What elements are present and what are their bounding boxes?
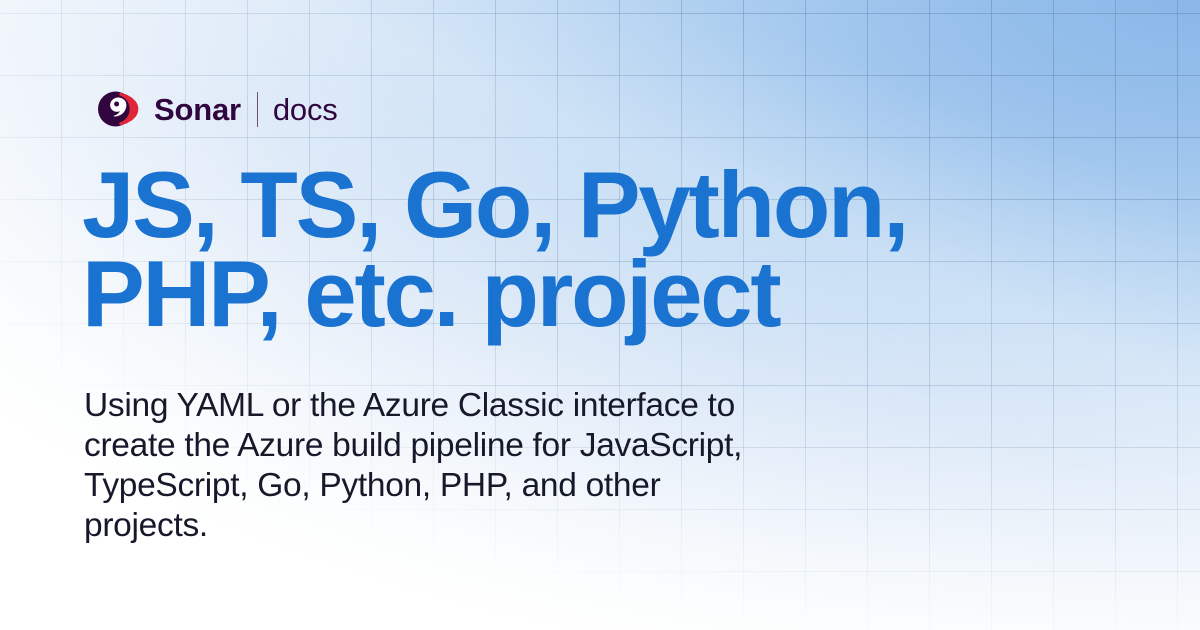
brand-divider — [257, 92, 258, 127]
brand-name: Sonar — [154, 94, 241, 125]
brand-wordmark: Sonar docs — [154, 92, 338, 127]
sonar-logo-icon — [96, 87, 140, 131]
page-description: Using YAML or the Azure Classic interfac… — [84, 386, 884, 546]
card-content: Sonar docs JS, TS, Go, Python, PHP, etc.… — [0, 0, 1200, 630]
brand-lockup: Sonar docs — [96, 86, 338, 132]
brand-section-label: docs — [273, 94, 338, 125]
social-card: Sonar docs JS, TS, Go, Python, PHP, etc.… — [0, 0, 1200, 630]
page-title: JS, TS, Go, Python, PHP, etc. project — [82, 160, 982, 339]
